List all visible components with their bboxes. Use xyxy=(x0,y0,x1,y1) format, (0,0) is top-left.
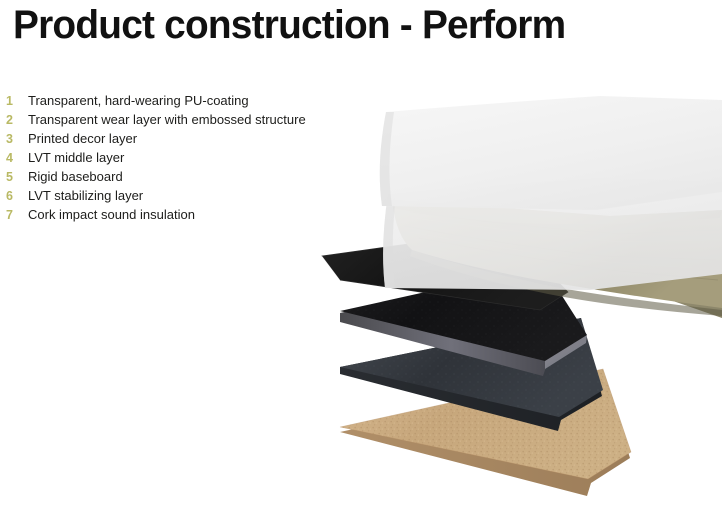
legend-item-label: Transparent wear layer with embossed str… xyxy=(28,110,306,129)
legend-item-number: 2 xyxy=(6,113,28,127)
product-construction-diagram: 1 2 3 4 5 6 7 xyxy=(300,60,722,496)
list-item: 5 Rigid baseboard xyxy=(6,167,336,186)
legend-item-number: 1 xyxy=(6,94,28,108)
legend-item-label: LVT stabilizing layer xyxy=(28,186,143,205)
list-item: 3 Printed decor layer xyxy=(6,129,336,148)
page-title: Product construction - Perform xyxy=(13,2,565,48)
legend-item-number: 3 xyxy=(6,132,28,146)
list-item: 1 Transparent, hard-wearing PU-coating xyxy=(6,91,336,110)
legend-item-number: 7 xyxy=(6,208,28,222)
legend-item-label: Printed decor layer xyxy=(28,129,137,148)
legend-item-label: Transparent, hard-wearing PU-coating xyxy=(28,91,249,110)
list-item: 7 Cork impact sound insulation xyxy=(6,205,336,224)
legend-item-number: 5 xyxy=(6,170,28,184)
list-item: 2 Transparent wear layer with embossed s… xyxy=(6,110,336,129)
layer-pu-coating-translucent xyxy=(380,96,722,210)
list-item: 4 LVT middle layer xyxy=(6,148,336,167)
legend-list: 1 Transparent, hard-wearing PU-coating 2… xyxy=(6,91,336,224)
legend-item-label: Cork impact sound insulation xyxy=(28,205,195,224)
legend-item-label: LVT middle layer xyxy=(28,148,124,167)
legend-item-number: 6 xyxy=(6,189,28,203)
legend-item-number: 4 xyxy=(6,151,28,165)
list-item: 6 LVT stabilizing layer xyxy=(6,186,336,205)
legend-item-label: Rigid baseboard xyxy=(28,167,123,186)
layer-stack-illustration xyxy=(300,60,722,496)
